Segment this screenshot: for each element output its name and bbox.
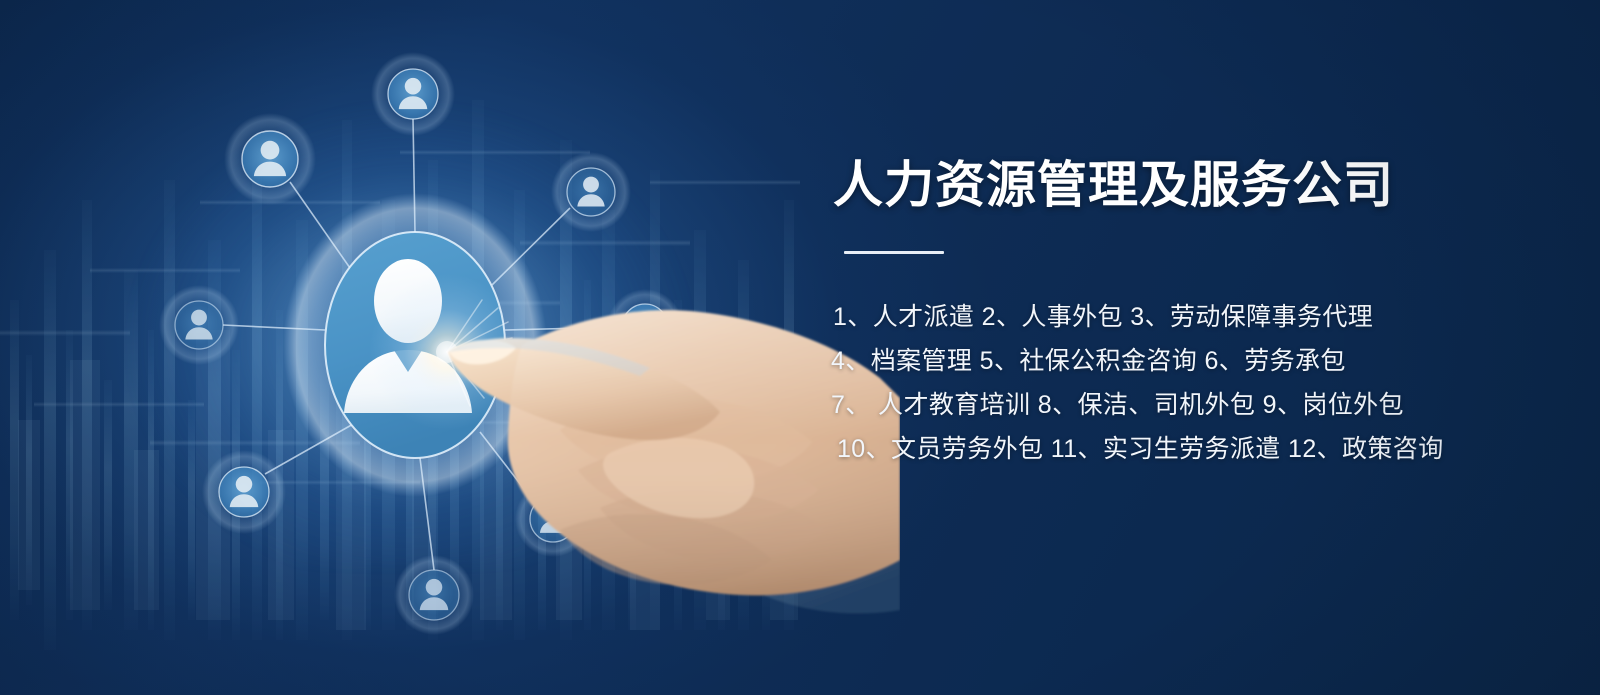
title-divider <box>844 251 944 254</box>
user-node-bottom <box>394 555 474 635</box>
user-node-upper-right <box>551 152 631 232</box>
touch-flare <box>369 274 525 430</box>
service-line-4: 10、文员劳务外包 11、实习生劳务派遣 12、政策咨询 <box>837 427 1533 471</box>
user-node-left <box>159 285 239 365</box>
service-list: 1、人才派遣 2、人事外包 3、劳动保障事务代理 4、档案管理 5、社保公积金咨… <box>833 295 1533 471</box>
network-diagram <box>0 0 820 695</box>
page-title: 人力资源管理及服务公司 <box>833 158 1533 212</box>
user-node-lower-left <box>202 450 286 534</box>
service-line-2: 4、档案管理 5、社保公积金咨询 6、劳务承包 <box>831 339 1533 383</box>
user-node-top <box>371 52 455 136</box>
user-node-lower-right <box>515 481 591 557</box>
hero-banner: 人力资源管理及服务公司 1、人才派遣 2、人事外包 3、劳动保障事务代理 4、档… <box>0 0 1600 695</box>
service-line-3: 7、 人才教育培训 8、保洁、司机外包 9、岗位外包 <box>831 383 1533 427</box>
content-block: 人力资源管理及服务公司 1、人才派遣 2、人事外包 3、劳动保障事务代理 4、档… <box>833 158 1533 471</box>
service-line-1: 1、人才派遣 2、人事外包 3、劳动保障事务代理 <box>833 295 1533 339</box>
user-node-upper-left <box>224 113 316 205</box>
user-node-right <box>607 289 683 365</box>
